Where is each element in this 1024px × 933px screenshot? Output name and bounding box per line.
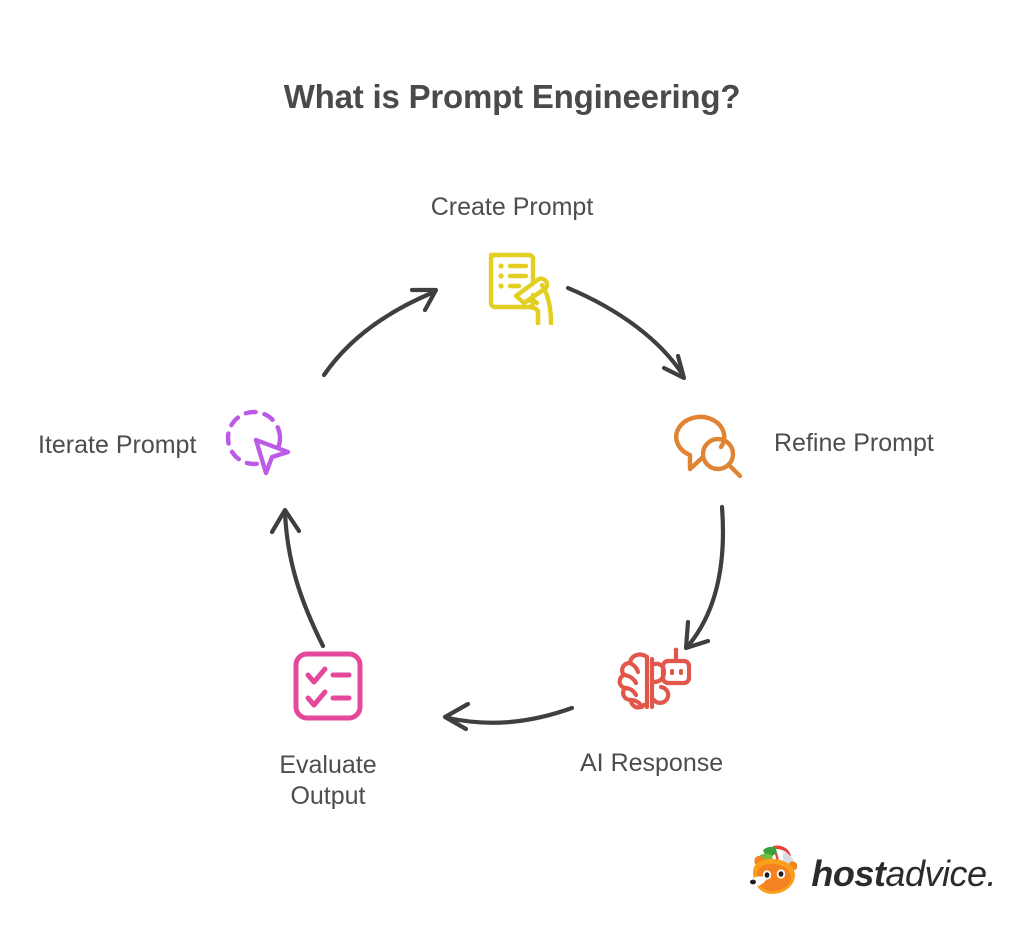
dashed-circle-cursor-icon — [216, 400, 302, 491]
brand-logo[interactable]: hostadvice. — [743, 842, 996, 905]
infographic-canvas: What is Prompt Engineering? — [0, 0, 1024, 933]
brand-wordmark-bold: host — [811, 853, 885, 894]
arrow-evaluate-to-iterate — [272, 510, 323, 646]
brand-wordmark-light: advice. — [885, 853, 996, 894]
page-title: What is Prompt Engineering? — [0, 78, 1024, 116]
brain-robot-icon — [609, 645, 695, 730]
arrow-refine-to-ai — [686, 507, 723, 648]
step-label-refine-prompt: Refine Prompt — [774, 428, 934, 459]
arrow-ai-to-evaluate — [445, 704, 572, 729]
step-label-iterate-prompt: Iterate Prompt — [38, 430, 196, 461]
step-create-prompt[interactable]: Create Prompt — [0, 192, 1024, 330]
step-label-evaluate-output: Evaluate Output — [279, 750, 376, 813]
step-iterate-prompt[interactable]: Iterate Prompt — [38, 400, 302, 491]
step-ai-response[interactable]: AI Response — [580, 645, 723, 779]
step-label-evaluate-output-line1: Evaluate — [279, 751, 376, 779]
clipboard-pen-icon — [466, 233, 558, 330]
checklist-square-icon — [287, 645, 369, 732]
cycle-diagram: Create Prompt — [0, 160, 1024, 840]
speech-bubble-search-icon — [660, 395, 752, 492]
step-refine-prompt[interactable]: Refine Prompt — [660, 395, 934, 492]
step-label-create-prompt: Create Prompt — [431, 192, 594, 223]
step-label-evaluate-output-line2: Output — [290, 782, 365, 810]
step-evaluate-output[interactable]: Evaluate Output — [248, 645, 408, 813]
brand-wordmark: hostadvice. — [811, 853, 996, 895]
step-label-ai-response: AI Response — [580, 748, 723, 779]
fox-mascot-icon — [743, 842, 805, 905]
